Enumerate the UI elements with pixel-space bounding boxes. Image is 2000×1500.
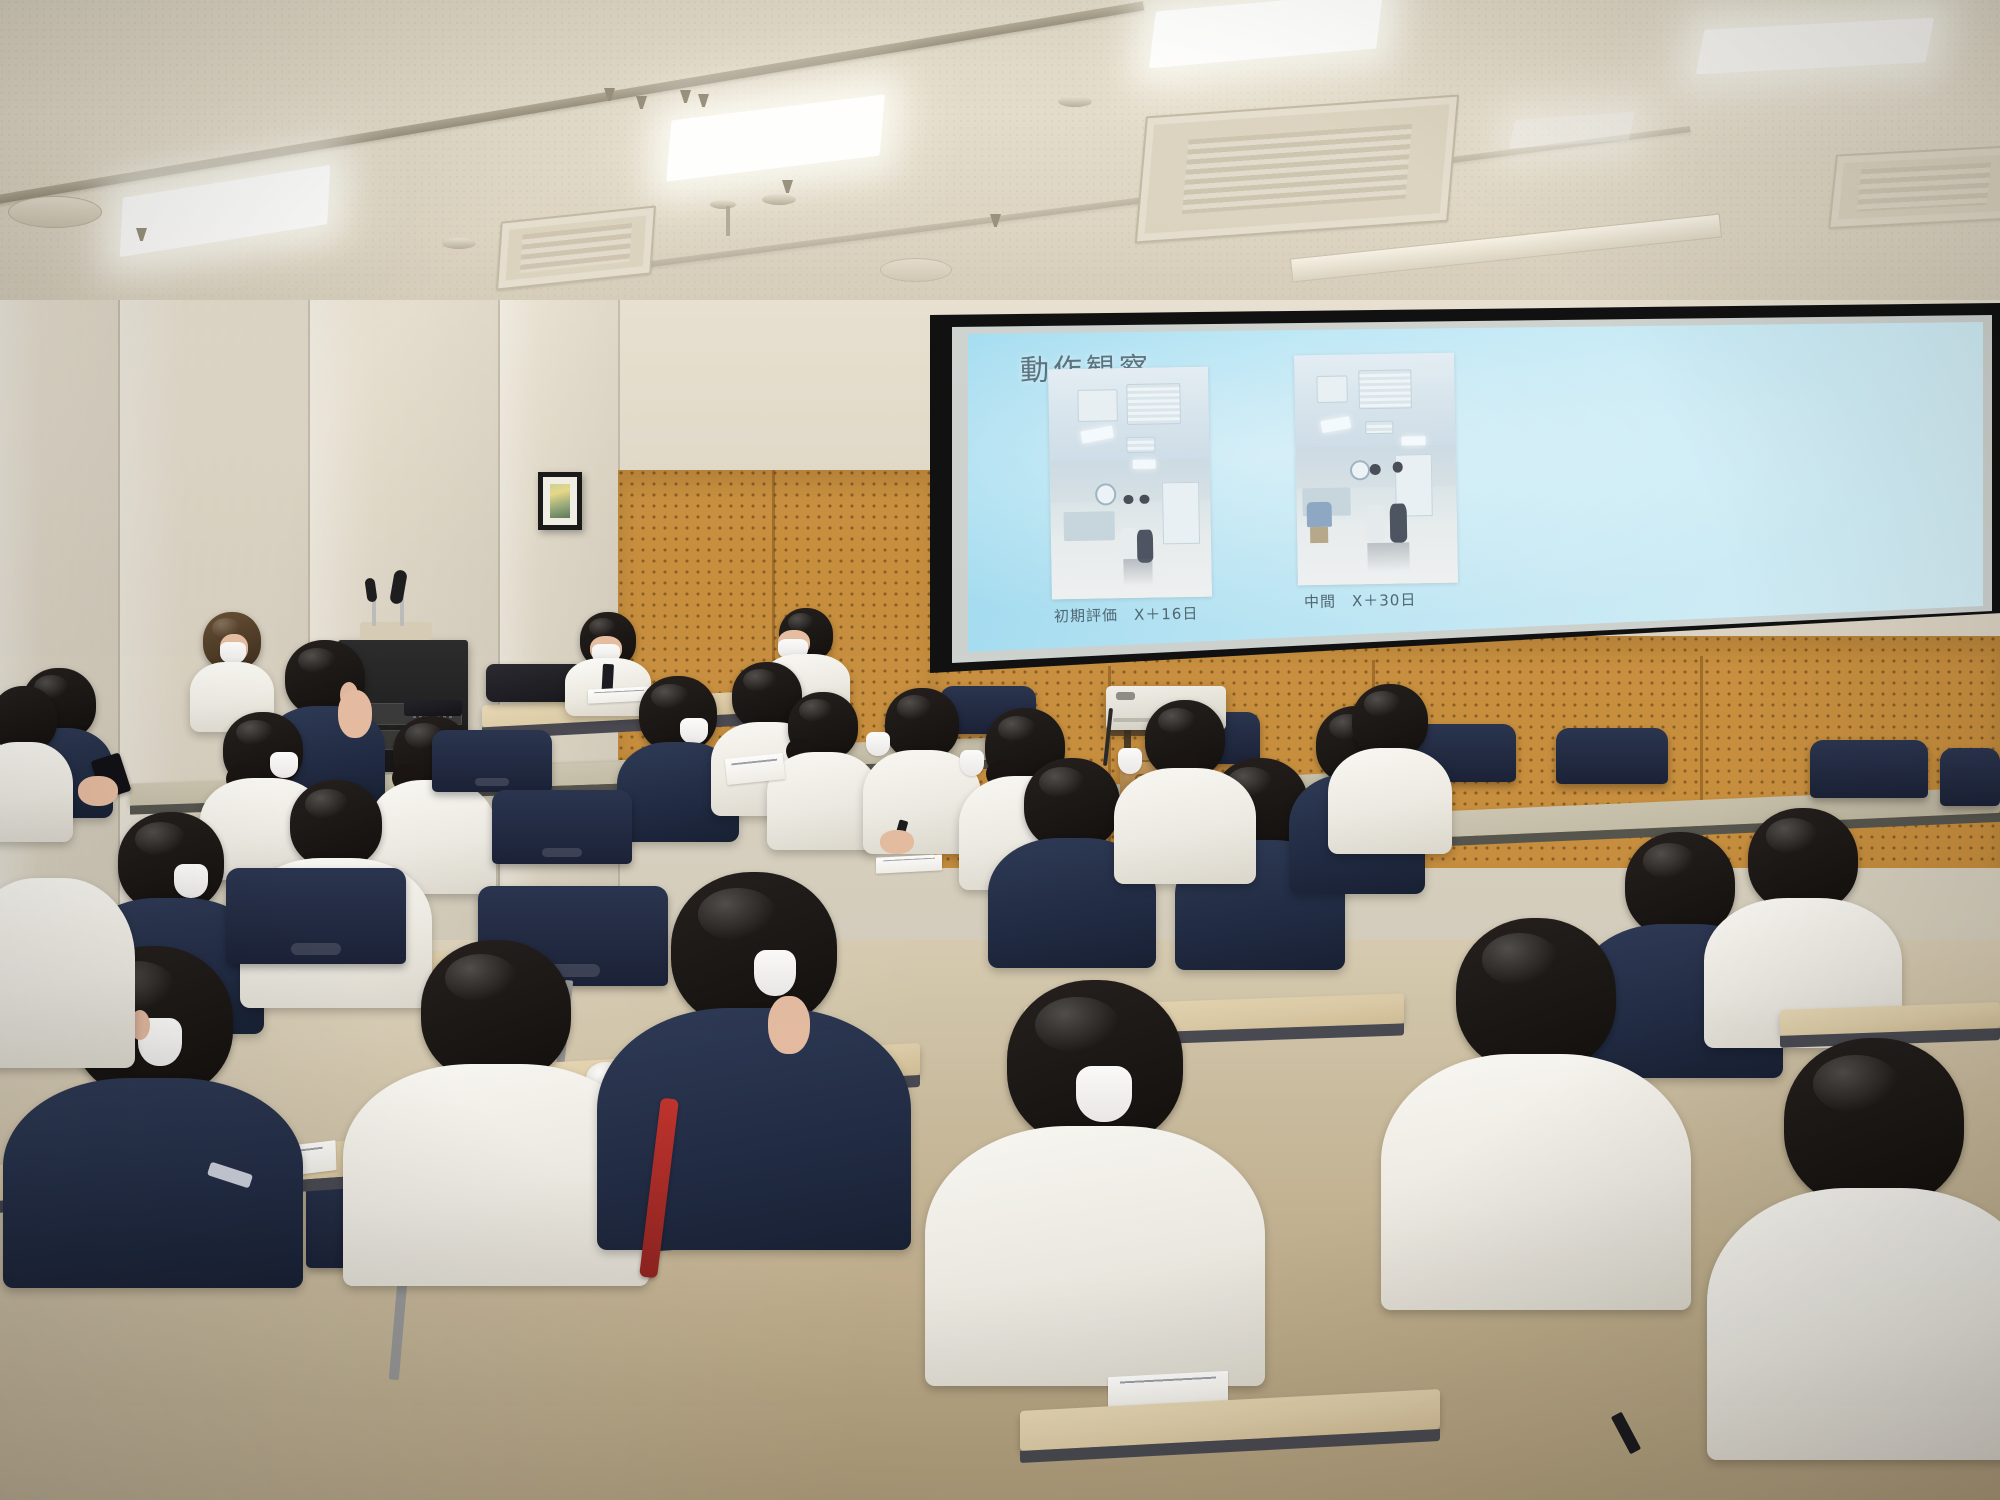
framed-picture [538, 472, 582, 530]
chair-empty-mid-left [432, 730, 552, 792]
projector-lens [1116, 692, 1135, 700]
mask [220, 642, 246, 664]
chair-empty-back-4 [1940, 748, 2000, 806]
mask [680, 718, 708, 744]
body [925, 1126, 1265, 1386]
hair-sheen [799, 699, 833, 722]
mask [754, 950, 796, 996]
photo-blue-chair [1306, 502, 1332, 528]
body [1707, 1188, 2000, 1460]
audience-foreground-right-edge [1386, 918, 1686, 1298]
audience-member-right-4 [1330, 684, 1450, 844]
hair-sheen [298, 648, 336, 674]
photo-vent-grill-4 [1366, 420, 1394, 434]
photo-person-walking-2 [1389, 462, 1408, 543]
hair-sheen [1158, 708, 1196, 735]
body [0, 878, 135, 1068]
audience-foreground-white-right [930, 980, 1260, 1360]
slide-photo-right [1294, 353, 1458, 586]
sprinkler-drop-rod [726, 206, 730, 236]
head [1352, 684, 1428, 758]
ceiling-speaker [8, 196, 102, 228]
mask [1118, 748, 1142, 774]
presenter-2-hair-sheen [788, 613, 814, 631]
body [1328, 748, 1452, 854]
head [671, 872, 837, 1028]
body [1114, 768, 1256, 884]
body [3, 1078, 303, 1288]
head [290, 780, 382, 868]
photo-reflection [1123, 559, 1152, 587]
hair-sheen [1482, 933, 1559, 985]
body [0, 742, 73, 842]
mask [1076, 1066, 1132, 1122]
air-conditioner-vent-right [1828, 145, 2000, 229]
head [421, 940, 571, 1082]
mask [960, 750, 984, 776]
hair-sheen [897, 695, 933, 719]
audience-member-center-3-bun [768, 692, 878, 842]
hair-sheen [743, 669, 777, 692]
photo-door [1162, 482, 1200, 544]
hair-sheen [445, 954, 517, 1002]
hand-holding-phone [78, 776, 118, 806]
mask [866, 732, 890, 756]
hair-sheen [1364, 691, 1400, 716]
hair-sheen [998, 716, 1036, 743]
hand [338, 690, 372, 738]
slide-photo-left [1048, 367, 1212, 600]
photo-ceiling-lamp-2 [1133, 460, 1156, 470]
sprinkler-disc-3 [710, 200, 736, 209]
chair-empty-mid-2 [492, 790, 632, 864]
hand-holding-pen [880, 830, 914, 854]
mask [270, 752, 298, 778]
photo-vent-grill-2 [1126, 437, 1155, 453]
head [1784, 1038, 1964, 1208]
hair-sheen [698, 888, 778, 941]
hair-sheen [236, 720, 274, 746]
hair-sheen [1039, 767, 1085, 798]
hair-sheen [1643, 843, 1696, 879]
audience-member-right-2-white [1120, 700, 1250, 870]
ceiling-speaker-2 [880, 258, 952, 282]
microphone-base [360, 622, 432, 640]
hair-sheen [135, 822, 186, 856]
head [1024, 758, 1120, 850]
photo-person-therapist [1121, 494, 1138, 559]
slide-caption-left: 初期評価 X＋16日 [1054, 602, 1199, 626]
picture-mat [543, 477, 577, 525]
photo-vent-panel-2 [1317, 375, 1348, 403]
audience-partial-left-edge [0, 858, 130, 1058]
picture-image [550, 484, 570, 518]
head [1748, 808, 1858, 912]
hair-sheen [1766, 818, 1819, 853]
head [1456, 918, 1616, 1072]
air-conditioner-vent-center [1135, 95, 1459, 244]
conference-room-photo: 動作観察 [0, 0, 2000, 1500]
body [597, 1008, 911, 1250]
sprinkler-disc-4 [1058, 96, 1092, 107]
slide-content: 動作観察 [968, 322, 1983, 652]
audience-member-white-far-left [0, 686, 72, 836]
hair-sheen [305, 789, 349, 819]
audience-foreground-far-right [1714, 1038, 2000, 1438]
photo-counter [1063, 511, 1115, 542]
head [639, 676, 717, 752]
hair-sheen [651, 684, 688, 710]
hand-on-chin [768, 996, 810, 1054]
chair-empty-back-3 [1810, 740, 1928, 798]
hair-sheen [1035, 997, 1119, 1053]
photo-vent-grill-3 [1358, 369, 1412, 409]
mask [174, 864, 208, 898]
photo-vent-grill [1127, 383, 1181, 425]
presenter-1-hair-sheen [589, 618, 616, 637]
photo-vent-panel [1077, 389, 1118, 422]
sprinkler-disc-2 [762, 194, 796, 205]
ceiling [0, 0, 2000, 330]
photo-ceiling-lamp-4 [1401, 436, 1425, 446]
hair-sheen [1813, 1055, 1899, 1113]
sprinkler-disc-1 [442, 238, 476, 249]
slide-caption-right: 中間 X＋30日 [1304, 589, 1417, 612]
photo-reflection-2 [1368, 542, 1410, 573]
projector-stand-shelf [404, 700, 462, 716]
body [1381, 1054, 1691, 1310]
chair-empty-back-2 [1556, 728, 1668, 784]
audience-foreground-navy-center [604, 872, 904, 1232]
photo-person-walking-1 [1366, 464, 1385, 542]
head [118, 812, 224, 912]
audience-member-right-6-white [1708, 808, 1898, 1038]
photo-person-patient [1137, 494, 1154, 563]
